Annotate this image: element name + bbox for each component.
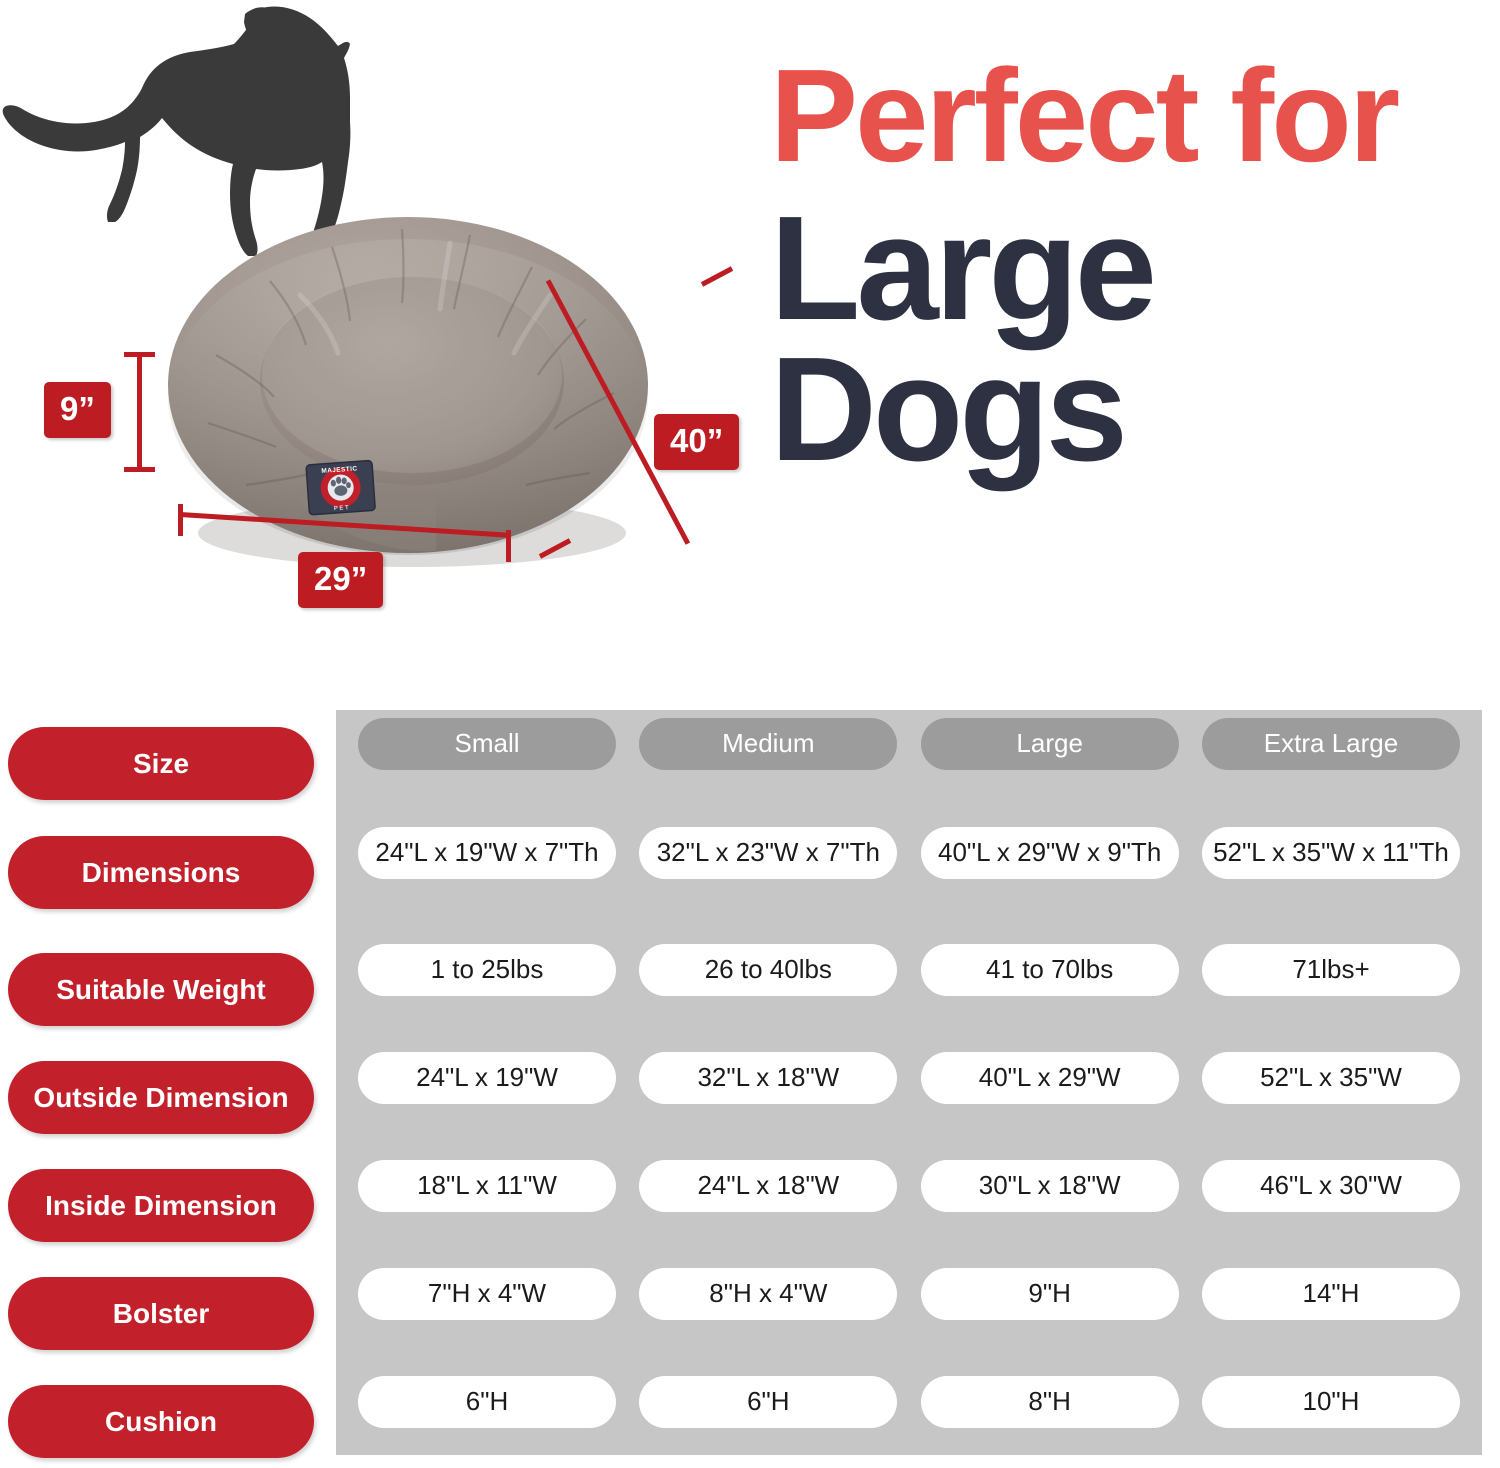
width-measure-cap-left — [178, 504, 183, 536]
row-label-suitable-weight: Suitable Weight — [8, 953, 314, 1026]
row-label-bolster: Bolster — [8, 1277, 314, 1350]
column-header-medium: Medium — [639, 718, 897, 770]
table-row: 18"L x 11"W 24"L x 18"W 30"L x 18"W 46"L… — [336, 1149, 1482, 1222]
dimension-badge-length: 40” — [654, 414, 739, 470]
cell-cushion-large: 8"H — [921, 1376, 1179, 1428]
specification-table: Size Dimensions Suitable Weight Outside … — [0, 690, 1500, 1468]
cell-weight-extra-large: 71lbs+ — [1202, 944, 1460, 996]
table-row: 1 to 25lbs 26 to 40lbs 41 to 70lbs 71lbs… — [336, 933, 1482, 1006]
cell-inside-large: 30"L x 18"W — [921, 1160, 1179, 1212]
dimension-badge-height: 9” — [44, 382, 111, 438]
table-row: 6"H 6"H 8"H 10"H — [336, 1365, 1482, 1438]
row-label-inside-dimension: Inside Dimension — [8, 1169, 314, 1242]
brand-logo-tag: MAJESTIC PET — [306, 460, 375, 514]
cell-outside-medium: 32"L x 18"W — [639, 1052, 897, 1104]
row-label-size: Size — [8, 727, 314, 800]
product-photo-dog-bed: MAJESTIC PET — [150, 185, 670, 585]
height-measure-line — [137, 352, 142, 472]
infographic-page: MAJESTIC PET 9” 29” 40” Perfect for Larg… — [0, 0, 1500, 1468]
table-row: 7"H x 4"W 8"H x 4"W 9"H 14"H — [336, 1257, 1482, 1330]
cell-cushion-extra-large: 10"H — [1202, 1376, 1460, 1428]
cell-cushion-small: 6"H — [358, 1376, 616, 1428]
cell-bolster-large: 9"H — [921, 1268, 1179, 1320]
column-header-large: Large — [921, 718, 1179, 770]
headline-line-2: Large — [770, 194, 1490, 345]
cell-dimensions-extra-large: 52"L x 35"W x 11"Th — [1202, 827, 1460, 879]
dimension-badge-width: 29” — [298, 552, 383, 608]
cell-dimensions-large: 40"L x 29"W x 9"Th — [921, 827, 1179, 879]
table-row: 24"L x 19"W x 7"Th 32"L x 23"W x 7"Th 40… — [336, 816, 1482, 889]
row-label-column: Size Dimensions Suitable Weight Outside … — [8, 710, 314, 1455]
cell-inside-extra-large: 46"L x 30"W — [1202, 1160, 1460, 1212]
column-header-small: Small — [358, 718, 616, 770]
cell-dimensions-small: 24"L x 19"W x 7"Th — [358, 827, 616, 879]
cell-dimensions-medium: 32"L x 23"W x 7"Th — [639, 827, 897, 879]
cell-inside-small: 18"L x 11"W — [358, 1160, 616, 1212]
headline-block: Perfect for Large Dogs — [770, 52, 1490, 486]
length-measure-cap-top — [701, 266, 733, 286]
table-header-row: Small Medium Large Extra Large — [336, 707, 1482, 780]
height-measure-cap-top — [124, 352, 155, 357]
row-label-outside-dimension: Outside Dimension — [8, 1061, 314, 1134]
height-measure-cap-bottom — [124, 467, 155, 472]
cell-outside-extra-large: 52"L x 35"W — [1202, 1052, 1460, 1104]
svg-text:PET: PET — [334, 505, 351, 512]
row-label-cushion: Cushion — [8, 1385, 314, 1458]
row-label-dimensions: Dimensions — [8, 836, 314, 909]
column-header-extra-large: Extra Large — [1202, 718, 1460, 770]
cell-cushion-medium: 6"H — [639, 1376, 897, 1428]
cell-weight-large: 41 to 70lbs — [921, 944, 1179, 996]
headline-line-3: Dogs — [770, 335, 1490, 486]
cell-bolster-extra-large: 14"H — [1202, 1268, 1460, 1320]
hero-section: MAJESTIC PET 9” 29” 40” Perfect for Larg… — [0, 0, 1500, 690]
headline-line-1: Perfect for — [770, 52, 1490, 180]
cell-outside-small: 24"L x 19"W — [358, 1052, 616, 1104]
cell-inside-medium: 24"L x 18"W — [639, 1160, 897, 1212]
cell-weight-medium: 26 to 40lbs — [639, 944, 897, 996]
cell-bolster-medium: 8"H x 4"W — [639, 1268, 897, 1320]
table-row: 24"L x 19"W 32"L x 18"W 40"L x 29"W 52"L… — [336, 1041, 1482, 1114]
width-measure-cap-right — [506, 530, 511, 562]
cell-outside-large: 40"L x 29"W — [921, 1052, 1179, 1104]
cell-weight-small: 1 to 25lbs — [358, 944, 616, 996]
cell-bolster-small: 7"H x 4"W — [358, 1268, 616, 1320]
